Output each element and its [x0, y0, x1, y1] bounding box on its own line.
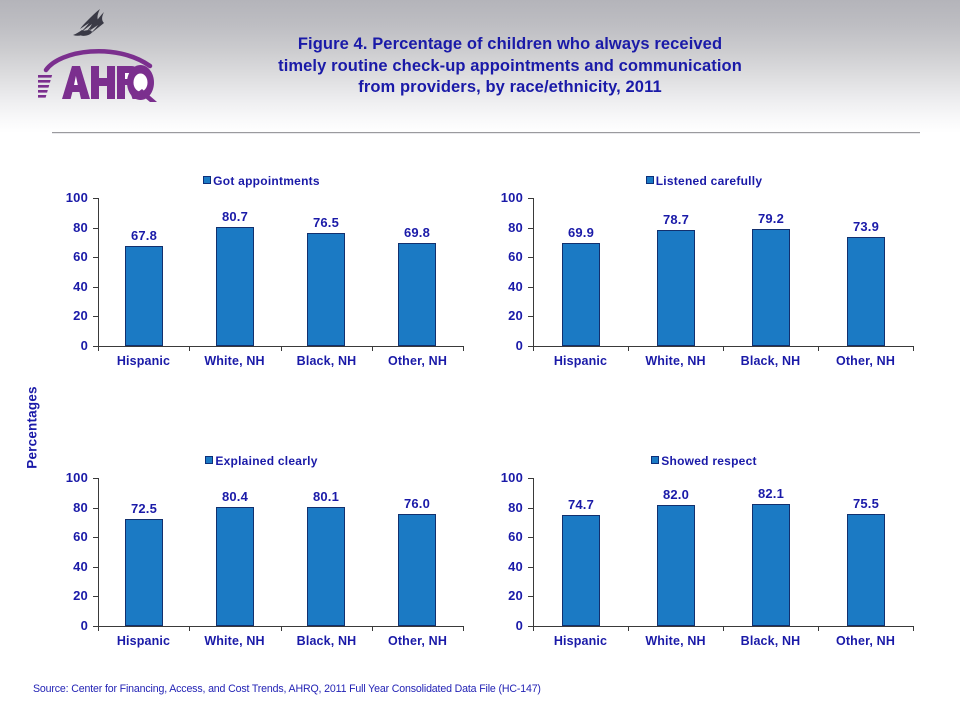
y-axis-tick — [528, 287, 533, 288]
figure-title-line-1: Figure 4. Percentage of children who alw… — [150, 34, 870, 56]
x-axis-category-label: Other, NH — [372, 354, 463, 368]
legend-label: Got appointments — [213, 174, 320, 188]
x-axis-tick — [913, 346, 914, 351]
x-axis-tick — [281, 626, 282, 631]
y-axis-tick-label: 80 — [489, 220, 523, 235]
y-axis-tick — [528, 508, 533, 509]
bar[interactable] — [125, 519, 163, 626]
chart-panel-1: Got appointments02040608010067.8Hispanic… — [60, 172, 463, 370]
legend-swatch-icon — [651, 456, 659, 464]
bar[interactable] — [216, 227, 254, 346]
y-axis-tick — [93, 198, 98, 199]
x-axis-category-label: White, NH — [628, 634, 723, 648]
bar-value-label: 76.5 — [296, 215, 356, 230]
chart-legend: Got appointments — [60, 172, 463, 190]
bar[interactable] — [657, 505, 695, 626]
bar-value-label: 69.8 — [387, 225, 447, 240]
figure-title-line-2: timely routine check-up appointments and… — [150, 56, 870, 78]
x-axis-tick — [913, 626, 914, 631]
bar[interactable] — [847, 237, 885, 346]
y-axis-tick — [93, 596, 98, 597]
y-axis-tick-label: 20 — [489, 588, 523, 603]
plot-area: 02040608010069.9Hispanic78.7White, NH79.… — [533, 198, 913, 346]
x-axis-category-label: Hispanic — [533, 634, 628, 648]
y-axis-tick — [93, 508, 98, 509]
x-axis-tick — [723, 626, 724, 631]
bar[interactable] — [216, 507, 254, 626]
y-axis-tick-label: 20 — [54, 308, 88, 323]
bar-value-label: 80.4 — [205, 489, 265, 504]
bar-value-label: 80.7 — [205, 209, 265, 224]
legend-label: Explained clearly — [215, 454, 317, 468]
y-axis-tick-label: 0 — [54, 618, 88, 633]
bar[interactable] — [752, 229, 790, 346]
y-axis-tick-label: 60 — [54, 529, 88, 544]
bar-value-label: 69.9 — [551, 225, 611, 240]
x-axis-category-label: Black, NH — [723, 634, 818, 648]
x-axis-tick — [189, 346, 190, 351]
x-axis-tick — [189, 626, 190, 631]
plot-area: 02040608010074.7Hispanic82.0White, NH82.… — [533, 478, 913, 626]
x-axis-tick — [723, 346, 724, 351]
ahrq-wordmark-icon — [38, 44, 158, 102]
legend-label: Showed respect — [661, 454, 757, 468]
y-axis-tick-label: 20 — [489, 308, 523, 323]
bar-value-label: 72.5 — [114, 501, 174, 516]
x-axis-category-label: Hispanic — [533, 354, 628, 368]
x-axis-tick — [628, 346, 629, 351]
header-divider — [52, 132, 920, 134]
x-axis-category-label: Black, NH — [723, 354, 818, 368]
x-axis-tick — [463, 626, 464, 631]
bar-value-label: 74.7 — [551, 497, 611, 512]
x-axis-category-label: Other, NH — [372, 634, 463, 648]
legend-label: Listened carefully — [656, 174, 763, 188]
y-axis-tick — [528, 567, 533, 568]
chart-legend: Listened carefully — [495, 172, 913, 190]
y-axis-line — [98, 198, 99, 346]
bar[interactable] — [307, 233, 345, 346]
x-axis-tick — [372, 346, 373, 351]
plot-area: 02040608010072.5Hispanic80.4White, NH80.… — [98, 478, 463, 626]
y-axis-tick-label: 100 — [54, 190, 88, 205]
y-axis-tick-label: 80 — [54, 500, 88, 515]
page-header: Figure 4. Percentage of children who alw… — [0, 0, 960, 133]
y-axis-tick-label: 100 — [489, 190, 523, 205]
y-axis-tick-label: 100 — [489, 470, 523, 485]
x-axis-tick — [463, 346, 464, 351]
y-axis-tick — [528, 257, 533, 258]
x-axis-category-label: Hispanic — [98, 634, 189, 648]
y-axis-tick — [93, 257, 98, 258]
y-axis-tick — [528, 478, 533, 479]
y-axis-tick-label: 80 — [54, 220, 88, 235]
y-axis-tick-label: 0 — [489, 618, 523, 633]
x-axis-category-label: White, NH — [189, 634, 280, 648]
bar[interactable] — [562, 515, 600, 626]
x-axis-tick — [533, 346, 534, 351]
bar-value-label: 79.2 — [741, 211, 801, 226]
y-axis-tick — [93, 567, 98, 568]
x-axis-category-label: Other, NH — [818, 634, 913, 648]
x-axis-tick — [98, 346, 99, 351]
y-axis-tick-label: 0 — [489, 338, 523, 353]
x-axis-category-label: Black, NH — [281, 354, 372, 368]
legend-swatch-icon — [205, 456, 213, 464]
y-axis-tick — [93, 287, 98, 288]
y-axis-tick — [93, 228, 98, 229]
bar[interactable] — [398, 243, 436, 346]
x-axis-tick — [281, 346, 282, 351]
chart-panel-2: Listened carefully02040608010069.9Hispan… — [495, 172, 913, 370]
y-axis-tick-label: 40 — [489, 279, 523, 294]
bar-value-label: 80.1 — [296, 489, 356, 504]
legend-swatch-icon — [203, 176, 211, 184]
percentages-axis-label: Percentages — [25, 368, 40, 488]
x-axis-tick — [372, 626, 373, 631]
x-axis-category-label: White, NH — [628, 354, 723, 368]
bar-value-label: 67.8 — [114, 228, 174, 243]
x-axis-category-label: White, NH — [189, 354, 280, 368]
bar-value-label: 75.5 — [836, 496, 896, 511]
bar-value-label: 82.1 — [741, 486, 801, 501]
y-axis-tick — [528, 537, 533, 538]
x-axis-tick — [533, 626, 534, 631]
bar[interactable] — [657, 230, 695, 346]
y-axis-tick-label: 60 — [489, 249, 523, 264]
y-axis-tick-label: 40 — [54, 279, 88, 294]
x-axis-category-label: Other, NH — [818, 354, 913, 368]
y-axis-tick-label: 60 — [489, 529, 523, 544]
figure-title: Figure 4. Percentage of children who alw… — [150, 34, 870, 99]
plot-area: 02040608010067.8Hispanic80.7White, NH76.… — [98, 198, 463, 346]
y-axis-tick-label: 20 — [54, 588, 88, 603]
chart-legend: Showed respect — [495, 452, 913, 470]
chart-panel-4: Showed respect02040608010074.7Hispanic82… — [495, 452, 913, 650]
bar[interactable] — [398, 514, 436, 626]
y-axis-tick — [93, 478, 98, 479]
bar-value-label: 76.0 — [387, 496, 447, 511]
y-axis-line — [98, 478, 99, 626]
figure-title-line-3: from providers, by race/ethnicity, 2011 — [150, 77, 870, 99]
y-axis-line — [533, 478, 534, 626]
x-axis-category-label: Hispanic — [98, 354, 189, 368]
y-axis-tick — [528, 198, 533, 199]
y-axis-tick-label: 100 — [54, 470, 88, 485]
y-axis-tick — [528, 316, 533, 317]
y-axis-tick-label: 80 — [489, 500, 523, 515]
chart-legend: Explained clearly — [60, 452, 463, 470]
bar[interactable] — [307, 507, 345, 626]
x-axis-category-label: Black, NH — [281, 634, 372, 648]
y-axis-tick-label: 40 — [489, 559, 523, 574]
y-axis-tick-label: 40 — [54, 559, 88, 574]
source-note: Source: Center for Financing, Access, an… — [33, 683, 541, 695]
y-axis-tick-label: 0 — [54, 338, 88, 353]
y-axis-tick — [93, 537, 98, 538]
bar-value-label: 78.7 — [646, 212, 706, 227]
y-axis-tick — [528, 596, 533, 597]
y-axis-tick-label: 60 — [54, 249, 88, 264]
bar-value-label: 73.9 — [836, 219, 896, 234]
x-axis-tick — [818, 626, 819, 631]
y-axis-tick — [93, 316, 98, 317]
hhs-eagle-icon — [70, 8, 114, 42]
bar[interactable] — [562, 243, 600, 346]
bar[interactable] — [847, 514, 885, 626]
x-axis-tick — [98, 626, 99, 631]
bar[interactable] — [752, 504, 790, 626]
y-axis-tick — [528, 228, 533, 229]
y-axis-line — [533, 198, 534, 346]
x-axis-tick — [628, 626, 629, 631]
legend-swatch-icon — [646, 176, 654, 184]
chart-panel-3: Explained clearly02040608010072.5Hispani… — [60, 452, 463, 650]
bar-value-label: 82.0 — [646, 487, 706, 502]
x-axis-tick — [818, 346, 819, 351]
bar[interactable] — [125, 246, 163, 346]
ahrq-logo-block — [38, 8, 158, 104]
